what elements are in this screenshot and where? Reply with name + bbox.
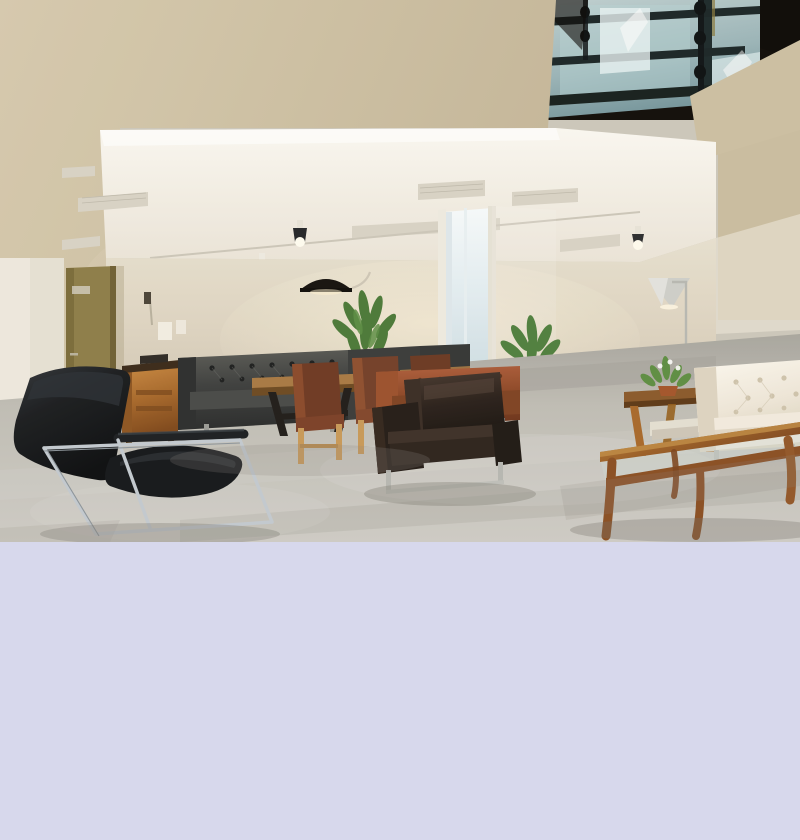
showroom-illustration (0, 0, 800, 542)
page-root: Assessing queen bed frame value: key fea… (0, 0, 800, 840)
article-content: Assessing queen bed frame value: key fea… (0, 542, 800, 840)
hero-image (0, 0, 800, 542)
